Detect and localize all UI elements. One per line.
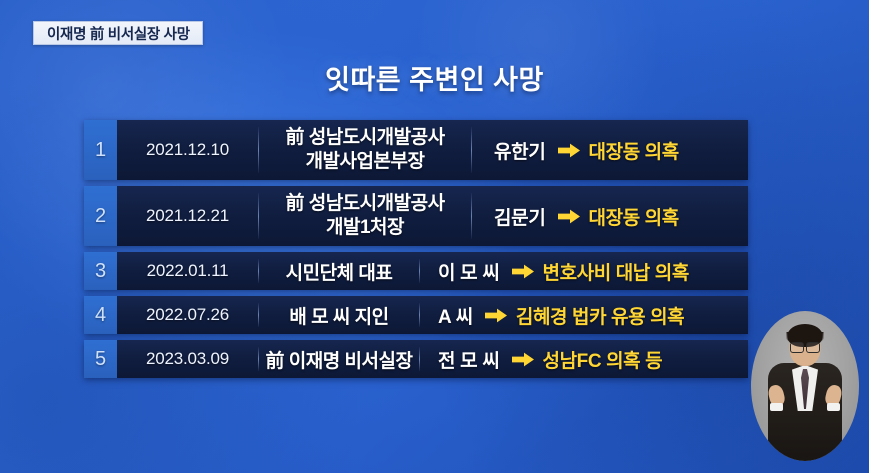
row-name: 이 모 씨 — [438, 258, 500, 285]
row-issue: 대장동 의혹 — [589, 203, 679, 230]
row-date: 2021.12.21 — [117, 186, 258, 246]
table-row: 1 2021.12.10 前 성남도시개발공사 개발사업본부장 유한기 대장동 … — [84, 120, 748, 180]
row-subject: 이 모 씨 변호사비 대납 의혹 — [420, 252, 748, 290]
row-number: 3 — [84, 252, 117, 290]
table-row: 3 2022.01.11 시민단체 대표 이 모 씨 변호사비 대납 의혹 — [84, 252, 748, 290]
row-number: 1 — [84, 120, 117, 180]
row-issue: 성남FC 의혹 등 — [543, 346, 663, 373]
table-row: 5 2023.03.09 前 이재명 비서실장 전 모 씨 성남FC 의혹 등 — [84, 340, 748, 378]
row-subject: 유한기 대장동 의혹 — [472, 120, 748, 180]
interpreter-glasses — [790, 342, 820, 351]
topic-badge-label: 이재명 前 비서실장 사망 — [47, 23, 190, 44]
row-date: 2023.03.09 — [117, 340, 258, 378]
interpreter-right-cuff — [827, 403, 840, 411]
row-name: A 씨 — [438, 302, 473, 329]
interpreter-left-cuff — [770, 403, 783, 411]
table-row: 2 2021.12.21 前 성남도시개발공사 개발1처장 김문기 대장동 의혹 — [84, 186, 748, 246]
interpreter-oval-frame — [751, 311, 859, 461]
row-number: 2 — [84, 186, 117, 246]
row-name: 김문기 — [494, 203, 546, 230]
row-issue: 김혜경 법카 유용 의혹 — [516, 302, 684, 329]
row-date: 2022.07.26 — [117, 296, 258, 334]
row-position-line1: 前 성남도시개발공사 — [285, 192, 444, 216]
topic-badge: 이재명 前 비서실장 사망 — [33, 21, 203, 45]
arrow-right-icon — [512, 264, 534, 279]
table-row: 4 2022.07.26 배 모 씨 지인 A 씨 김혜경 법카 유용 의혹 — [84, 296, 748, 334]
row-position-line1: 前 성남도시개발공사 — [285, 126, 444, 150]
sign-language-interpreter — [747, 307, 863, 473]
row-position: 배 모 씨 지인 — [259, 296, 419, 334]
page-title: 잇따른 주변인 사망 — [0, 58, 869, 97]
row-issue: 대장동 의혹 — [589, 137, 679, 164]
incident-table: 1 2021.12.10 前 성남도시개발공사 개발사업본부장 유한기 대장동 … — [84, 120, 748, 384]
row-position: 前 성남도시개발공사 개발사업본부장 — [259, 120, 471, 180]
row-subject: 김문기 대장동 의혹 — [472, 186, 748, 246]
arrow-right-icon — [485, 308, 507, 323]
arrow-right-icon — [558, 143, 580, 158]
row-number: 4 — [84, 296, 117, 334]
row-number: 5 — [84, 340, 117, 378]
broadcast-graphic: 이재명 前 비서실장 사망 잇따른 주변인 사망 1 2021.12.10 前 … — [0, 0, 869, 473]
row-issue: 변호사비 대납 의혹 — [543, 258, 689, 285]
row-position: 前 성남도시개발공사 개발1처장 — [259, 186, 471, 246]
row-position: 시민단체 대표 — [259, 252, 419, 290]
row-name: 유한기 — [494, 137, 546, 164]
arrow-right-icon — [512, 352, 534, 367]
row-position-line2: 개발사업본부장 — [306, 150, 425, 174]
row-name: 전 모 씨 — [438, 346, 500, 373]
row-subject: A 씨 김혜경 법카 유용 의혹 — [420, 296, 748, 334]
arrow-right-icon — [558, 209, 580, 224]
row-date: 2022.01.11 — [117, 252, 258, 290]
row-subject: 전 모 씨 성남FC 의혹 등 — [420, 340, 748, 378]
row-position-line2: 개발1처장 — [326, 216, 404, 240]
row-position: 前 이재명 비서실장 — [259, 340, 419, 378]
row-date: 2021.12.10 — [117, 120, 258, 180]
